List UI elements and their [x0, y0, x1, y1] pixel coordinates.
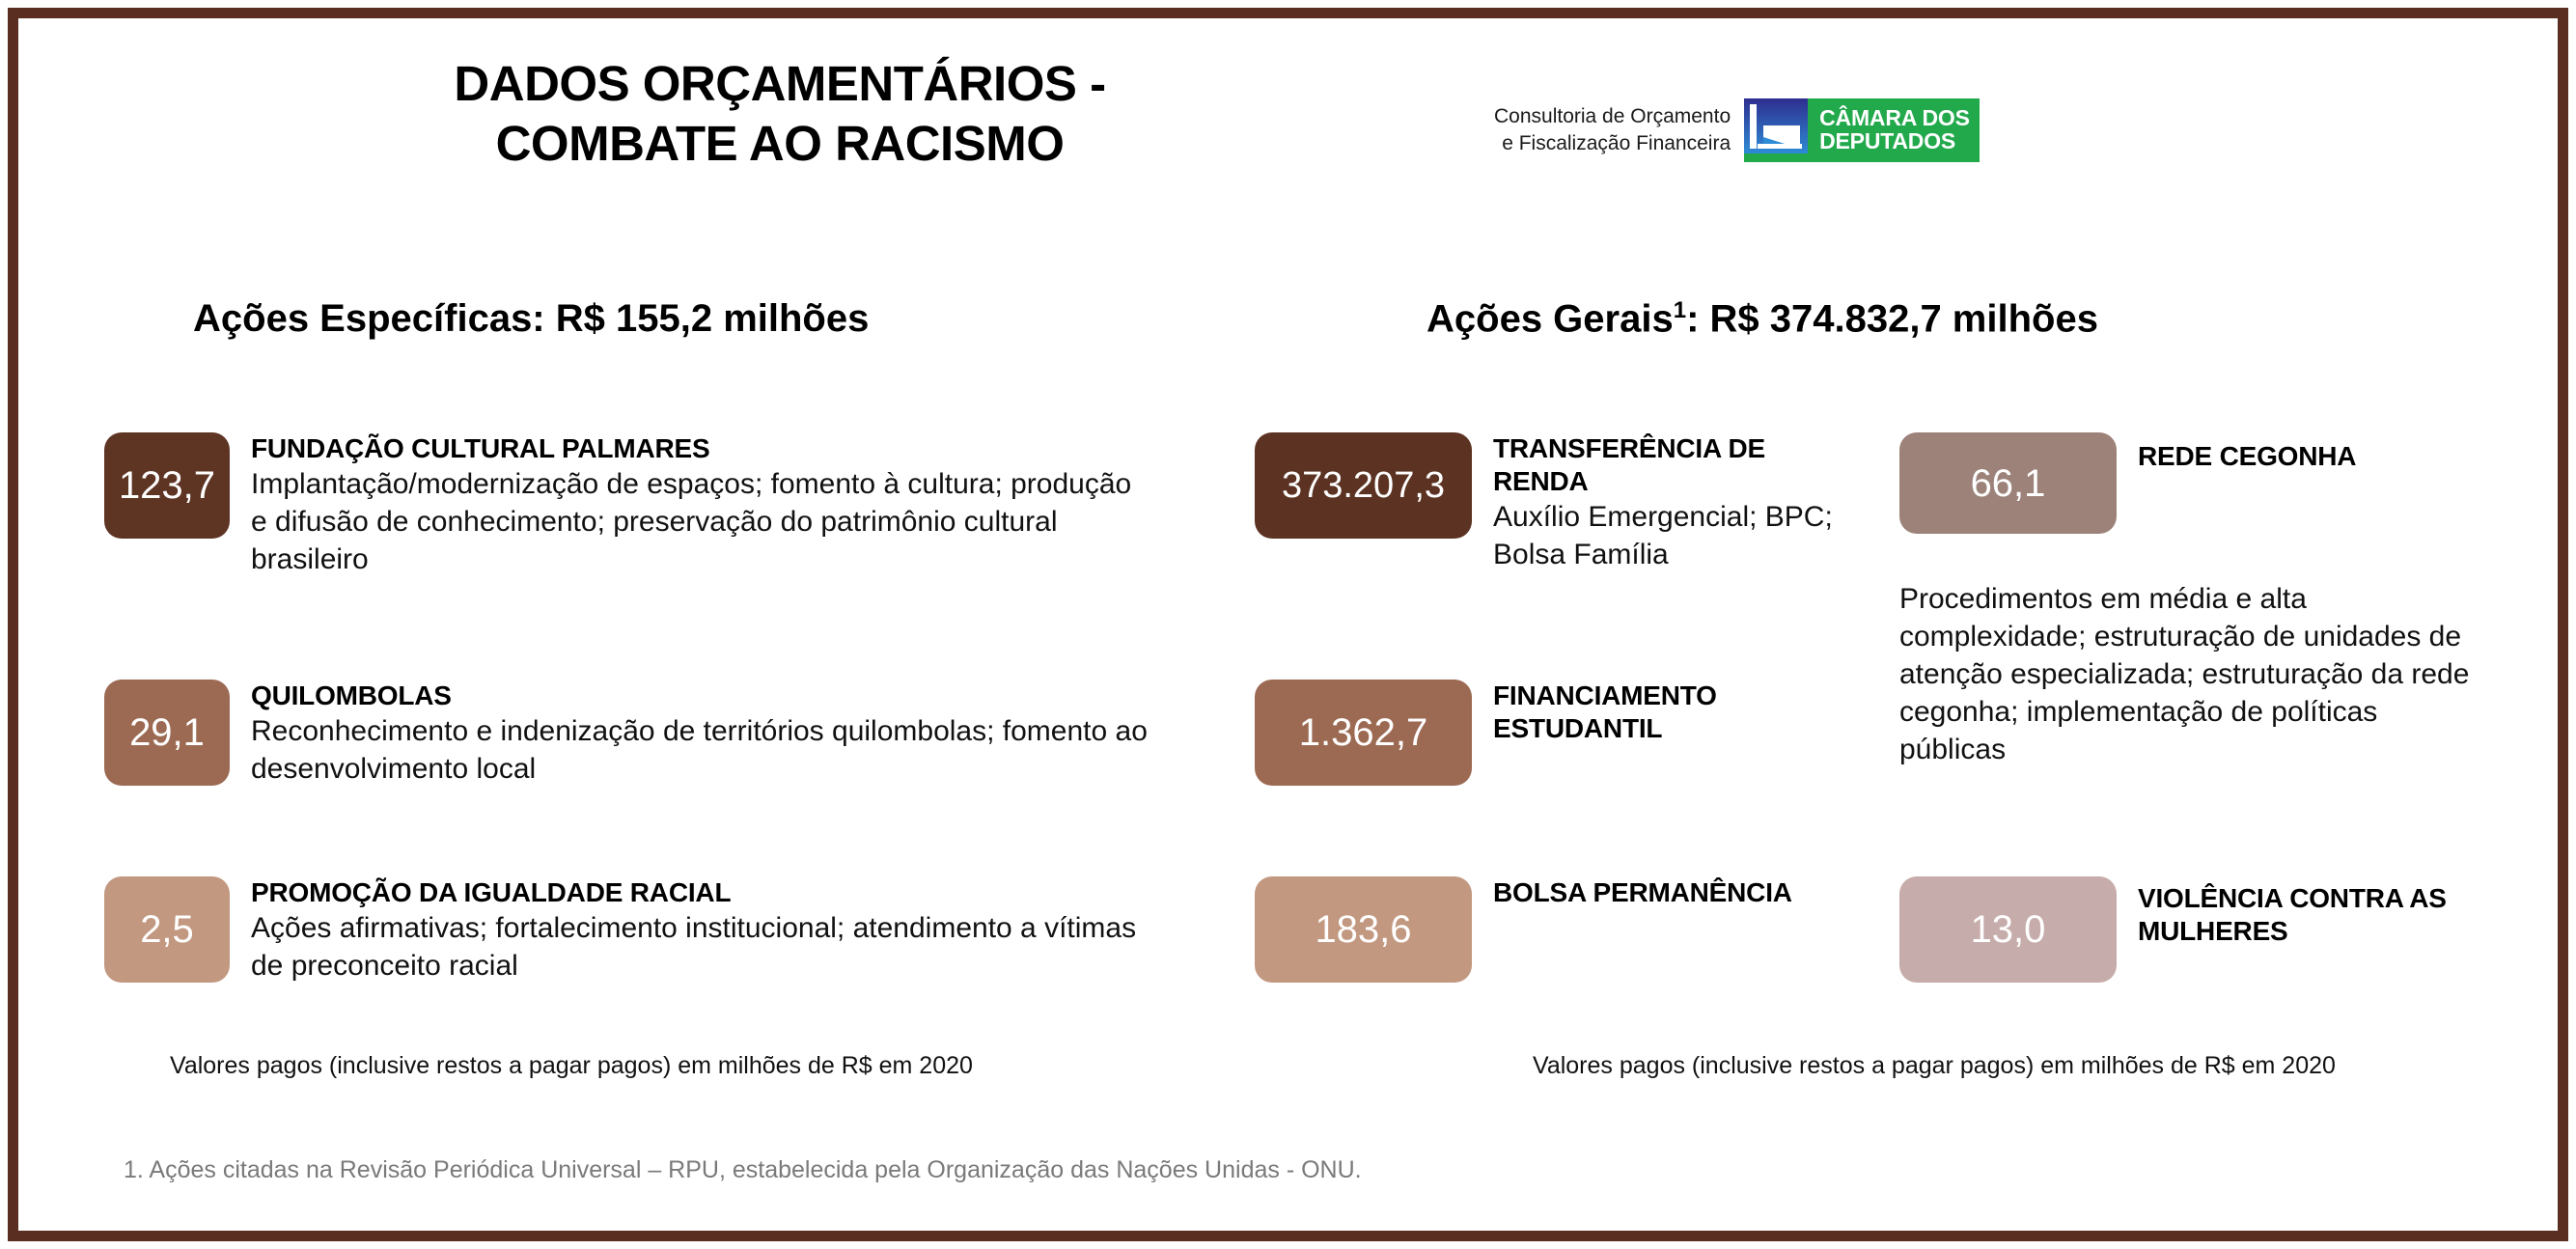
- item-text-block: QUILOMBOLAS Reconhecimento e indenização…: [230, 680, 1149, 788]
- item-bolsa-permanencia: 183,6 BOLSA PERMANÊNCIA: [1255, 876, 1853, 983]
- item-text-block: FUNDAÇÃO CULTURAL PALMARES Implantação/m…: [230, 432, 1149, 578]
- item-title: FINANCIAMENTO ESTUDANTIL: [1493, 680, 1841, 745]
- item-text-block: VIOLÊNCIA CONTRA AS MULHERES: [2117, 876, 2485, 948]
- logo-brand-line-2: DEPUTADOS: [1819, 130, 1970, 153]
- congress-building-icon: [1744, 98, 1808, 162]
- page-title-line-1: DADOS ORÇAMENTÁRIOS -: [297, 54, 1262, 114]
- item-title: VIOLÊNCIA CONTRA AS MULHERES: [2138, 882, 2485, 948]
- item-text-block: TRANSFERÊNCIA DE RENDA Auxílio Emergenci…: [1472, 432, 1841, 573]
- page-title-line-2: COMBATE AO RACISMO: [297, 114, 1262, 174]
- item-quilombolas: 29,1 QUILOMBOLAS Reconhecimento e indeni…: [104, 680, 1156, 788]
- logo-subtitle-line-2: e Fiscalização Financeira: [1494, 130, 1731, 157]
- value-chip: 1.362,7: [1255, 680, 1472, 786]
- value-chip: 373.207,3: [1255, 432, 1472, 539]
- page-title: DADOS ORÇAMENTÁRIOS - COMBATE AO RACISMO: [297, 54, 1262, 174]
- item-promocao-da-igualdade-racial: 2,5 PROMOÇÃO DA IGUALDADE RACIAL Ações a…: [104, 876, 1156, 985]
- item-title: PROMOÇÃO DA IGUALDADE RACIAL: [251, 876, 1149, 909]
- value-chip: 29,1: [104, 680, 230, 786]
- item-title: BOLSA PERMANÊNCIA: [1493, 876, 1841, 909]
- item-description: Auxílio Emergencial; BPC; Bolsa Família: [1493, 498, 1841, 573]
- item-title: FUNDAÇÃO CULTURAL PALMARES: [251, 432, 1149, 465]
- item-violencia-contra-as-mulheres: 13,0 VIOLÊNCIA CONTRA AS MULHERES: [1899, 876, 2498, 983]
- value-chip: 2,5: [104, 876, 230, 983]
- item-description: Reconhecimento e indenização de territór…: [251, 712, 1149, 788]
- item-title: TRANSFERÊNCIA DE RENDA: [1493, 432, 1841, 498]
- logo-brand-block: CÂMARA DOS DEPUTADOS: [1808, 98, 1980, 162]
- value-chip: 183,6: [1255, 876, 1472, 983]
- section-heading-acoes-especificas: Ações Específicas: R$ 155,2 milhões: [193, 297, 869, 341]
- item-fundacao-cultural-palmares: 123,7 FUNDAÇÃO CULTURAL PALMARES Implant…: [104, 432, 1156, 578]
- item-transferencia-de-renda: 373.207,3 TRANSFERÊNCIA DE RENDA Auxílio…: [1255, 432, 1853, 573]
- logo-subtitle-line-1: Consultoria de Orçamento: [1494, 103, 1731, 130]
- item-header-row: 66,1 REDE CEGONHA: [1899, 432, 2498, 534]
- logo-mark: CÂMARA DOS DEPUTADOS: [1744, 98, 1980, 162]
- value-chip: 66,1: [1899, 432, 2117, 534]
- caption-right: Valores pagos (inclusive restos a pagar …: [1533, 1052, 2336, 1080]
- item-text-block: PROMOÇÃO DA IGUALDADE RACIAL Ações afirm…: [230, 876, 1149, 985]
- section-heading-acoes-gerais: Ações Gerais1: R$ 374.832,7 milhões: [1426, 297, 2098, 341]
- item-text-block: BOLSA PERMANÊNCIA: [1472, 876, 1841, 909]
- caption-left: Valores pagos (inclusive restos a pagar …: [170, 1052, 973, 1080]
- section-heading-footnote-marker: 1: [1674, 297, 1686, 323]
- value-chip: 123,7: [104, 432, 230, 539]
- item-description: Ações afirmativas; fortalecimento instit…: [251, 909, 1149, 985]
- item-financiamento-estudantil: 1.362,7 FINANCIAMENTO ESTUDANTIL: [1255, 680, 1853, 786]
- value-chip: 13,0: [1899, 876, 2117, 983]
- logo-brand-line-1: CÂMARA DOS: [1819, 107, 1970, 130]
- item-rede-cegonha: 66,1 REDE CEGONHA Procedimentos em média…: [1899, 432, 2498, 768]
- camara-dos-deputados-logo: Consultoria de Orçamento e Fiscalização …: [1494, 93, 1980, 168]
- item-title: REDE CEGONHA: [2138, 440, 2485, 473]
- item-description: Procedimentos em média e alta complexida…: [1899, 580, 2479, 768]
- section-heading-acoes-gerais-suffix: : R$ 374.832,7 milhões: [1686, 297, 2098, 340]
- infographic-poster: DADOS ORÇAMENTÁRIOS - COMBATE AO RACISMO…: [0, 0, 2576, 1249]
- item-text-block: FINANCIAMENTO ESTUDANTIL: [1472, 680, 1841, 745]
- logo-subtitle: Consultoria de Orçamento e Fiscalização …: [1494, 103, 1744, 156]
- item-text-block: REDE CEGONHA: [2117, 432, 2485, 473]
- item-title: QUILOMBOLAS: [251, 680, 1149, 712]
- item-description: Implantação/modernização de espaços; fom…: [251, 465, 1149, 578]
- section-heading-acoes-gerais-prefix: Ações Gerais: [1426, 297, 1674, 340]
- footnote: 1. Ações citadas na Revisão Periódica Un…: [124, 1156, 1362, 1184]
